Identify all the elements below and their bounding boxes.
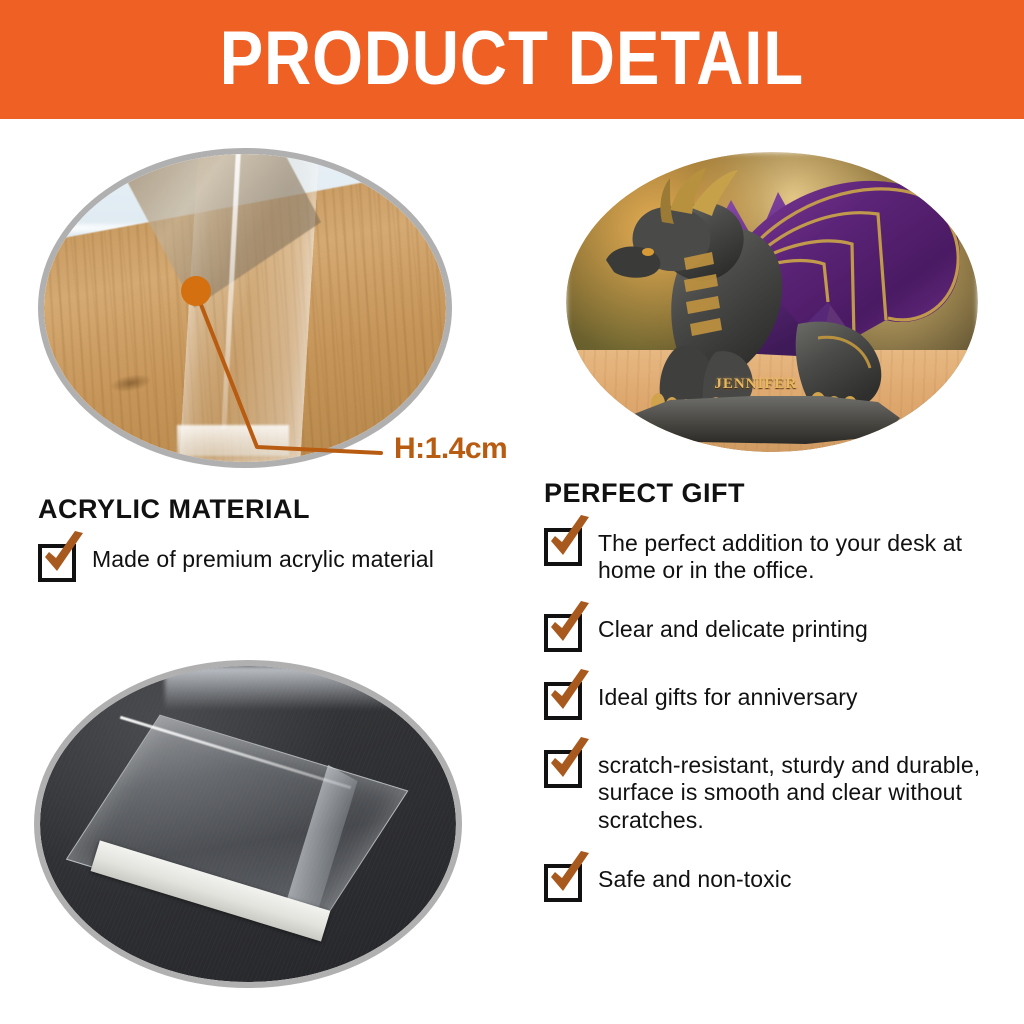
checkmark-icon: [543, 515, 595, 563]
photo-dragon-figurine: JENNIFER: [566, 152, 978, 452]
photo-acrylic-edge-inner: [44, 154, 446, 462]
wood-knot: [109, 371, 153, 394]
page-title: PRODUCT DETAIL: [220, 21, 805, 97]
checkmark-icon: [543, 737, 595, 785]
acrylic-block-base: [177, 425, 290, 456]
dragon-rock-base: [634, 396, 900, 444]
section-heading-acrylic-material: ACRYLIC MATERIAL: [38, 494, 310, 525]
feature-text: Made of premium acrylic material: [92, 540, 434, 573]
feature-text: Safe and non-toxic: [598, 860, 792, 893]
checkbox-checked[interactable]: [38, 544, 76, 582]
list-item: scratch-resistant, sturdy and durable, s…: [544, 746, 1000, 833]
feature-text: Ideal gifts for anniversary: [598, 678, 858, 711]
checkmark-icon: [37, 531, 89, 579]
thickness-label: H:1.4cm: [394, 432, 507, 466]
photo-acrylic-edge: [38, 148, 452, 468]
checkbox-checked[interactable]: [544, 528, 582, 566]
list-item: Safe and non-toxic: [544, 860, 1000, 902]
dragon-figurine-illustration: [566, 152, 978, 452]
feature-text: scratch-resistant, sturdy and durable, s…: [598, 746, 1000, 833]
feature-list-acrylic-material: Made of premium acrylic material: [38, 540, 518, 608]
engraved-name: JENNIFER: [714, 376, 797, 393]
photo-acrylic-block: [34, 660, 462, 988]
feature-text: Clear and delicate printing: [598, 610, 868, 643]
photo-dragon-inner: JENNIFER: [566, 152, 978, 452]
checkbox-checked[interactable]: [544, 750, 582, 788]
dragon-horn-small: [660, 178, 674, 224]
checkmark-icon: [543, 851, 595, 899]
checkbox-checked[interactable]: [544, 864, 582, 902]
feature-text: The perfect addition to your desk at hom…: [598, 524, 1000, 584]
checkmark-icon: [543, 601, 595, 649]
checkbox-checked[interactable]: [544, 614, 582, 652]
list-item: Clear and delicate printing: [544, 610, 1000, 652]
list-item: Ideal gifts for anniversary: [544, 678, 1000, 720]
product-detail-banner: PRODUCT DETAIL: [0, 0, 1024, 119]
slate-edge-highlight: [165, 666, 394, 710]
checkmark-icon: [543, 669, 595, 717]
dragon-eye: [642, 248, 654, 256]
feature-list-perfect-gift: The perfect addition to your desk at hom…: [544, 524, 1000, 928]
photo-acrylic-block-inner: [40, 666, 456, 982]
checkbox-checked[interactable]: [544, 682, 582, 720]
list-item: Made of premium acrylic material: [38, 540, 518, 582]
section-heading-perfect-gift: PERFECT GIFT: [544, 478, 745, 509]
list-item: The perfect addition to your desk at hom…: [544, 524, 1000, 584]
